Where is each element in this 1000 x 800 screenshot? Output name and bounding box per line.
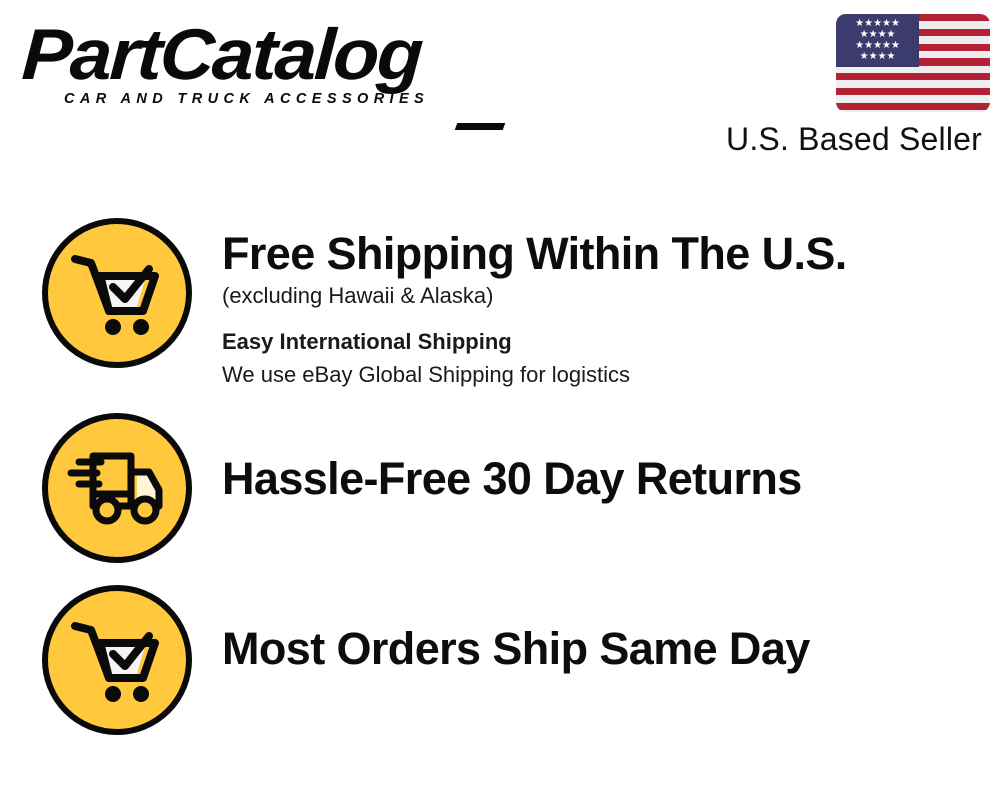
benefit-row: Most Orders Ship Same Day (0, 585, 1000, 735)
benefit-title: Free Shipping Within The U.S. (222, 230, 1000, 278)
brand-wordmark: PartCatalog (20, 22, 517, 90)
flag-canton: ★★★★★ ★★★★ ★★★★★ ★★★★ (836, 14, 919, 67)
benefit-detail: We use eBay Global Shipping for logistic… (222, 359, 1000, 391)
brand-underline-stroke (455, 123, 506, 130)
delivery-truck-icon (42, 413, 192, 563)
benefit-title: Most Orders Ship Same Day (222, 625, 1000, 673)
benefit-note: (excluding Hawaii & Alaska) (222, 280, 1000, 312)
shopping-cart-check-icon (42, 218, 192, 368)
benefit-text-block: Most Orders Ship Same Day (192, 585, 1000, 673)
benefits-list: Free Shipping Within The U.S. (excluding… (0, 218, 1000, 735)
benefit-row: Hassle-Free 30 Day Returns (0, 413, 1000, 563)
brand-logo: PartCatalog CAR AND TRUCK ACCESSORIES (24, 22, 494, 107)
us-based-seller-badge: ★★★★★ ★★★★ ★★★★★ ★★★★ U.S. Based Seller (710, 14, 990, 158)
us-based-seller-label: U.S. Based Seller (710, 121, 982, 158)
benefit-row: Free Shipping Within The U.S. (excluding… (0, 218, 1000, 391)
benefit-title: Hassle-Free 30 Day Returns (222, 455, 1000, 503)
benefit-text-block: Free Shipping Within The U.S. (excluding… (192, 218, 1000, 391)
benefit-subtitle: Easy International Shipping (222, 326, 1000, 358)
benefit-text-block: Hassle-Free 30 Day Returns (192, 413, 1000, 503)
shopping-cart-check-icon (42, 585, 192, 735)
us-flag-icon: ★★★★★ ★★★★ ★★★★★ ★★★★ (836, 14, 990, 112)
